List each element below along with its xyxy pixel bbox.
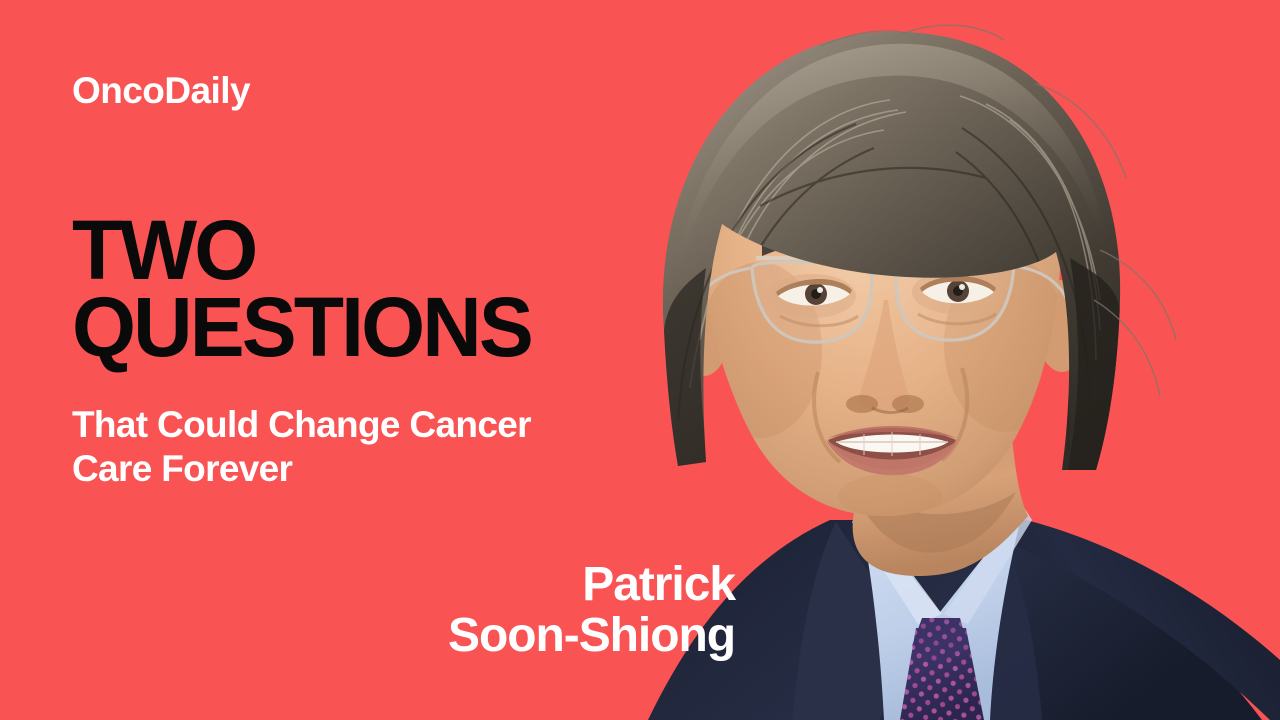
headline-line-1: TWO [72,212,531,289]
subtitle-line-2: Care Forever [72,447,531,491]
guest-name: Patrick Soon-Shiong [448,560,735,662]
portrait-glasses [698,256,1066,342]
portrait-ears [678,280,1088,376]
headline: TWO QUESTIONS [72,212,531,367]
guest-first-name: Patrick [448,560,735,611]
video-thumbnail: OncoDaily TWO QUESTIONS That Could Chang… [0,0,1280,720]
portrait-hair [663,25,1176,492]
subtitle-line-1: That Could Change Cancer [72,403,531,447]
portrait-face [698,58,1068,518]
oncodaily-logo: OncoDaily [72,72,250,109]
guest-last-name: Soon-Shiong [448,611,735,662]
headline-line-2: QUESTIONS [72,289,531,366]
portrait-suit [648,410,1280,720]
subtitle: That Could Change Cancer Care Forever [72,403,531,490]
